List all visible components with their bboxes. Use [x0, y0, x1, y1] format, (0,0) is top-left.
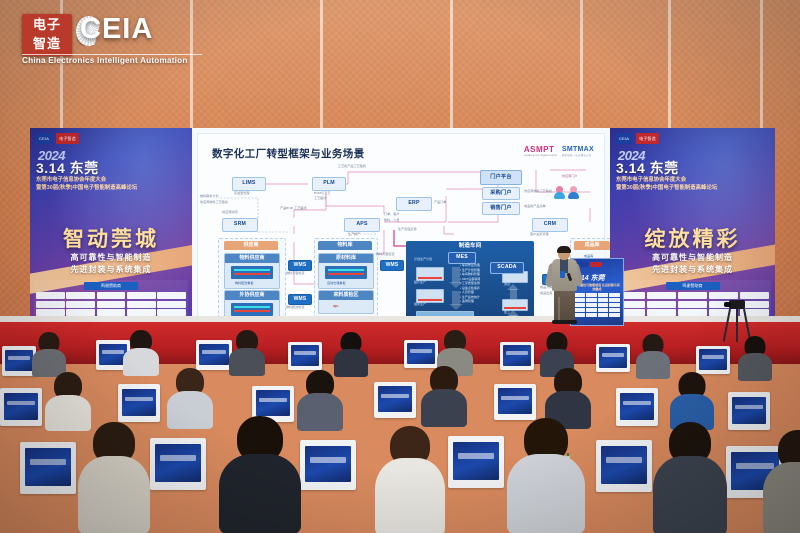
wms-badge-2[interactable]: WMS	[288, 294, 312, 305]
sponsor-logo	[157, 292, 186, 299]
note-plm: BOM与工艺	[314, 191, 330, 195]
presenter	[548, 247, 582, 325]
note-wms-1: 物料齐套检查	[286, 271, 305, 275]
note-plm-2: 工艺路线	[314, 196, 326, 200]
node-portal[interactable]: 门户平台	[480, 170, 522, 185]
audience-member	[380, 426, 440, 533]
workshop-title: 制造车间	[406, 241, 534, 251]
node-srm[interactable]: SRM	[222, 218, 258, 232]
sponsor-logo	[740, 292, 769, 299]
slide-canvas: 数字化工厂转型框架与业务场景 ASMPT Leading the digital…	[197, 133, 605, 328]
supplier-kanban-1	[231, 266, 273, 279]
portal-user-icons	[554, 186, 588, 204]
screenshot-root: CEIA 电子智造 2024 3.14 东莞 东莞市电子信息协会年度大会 暨第3…	[0, 0, 800, 533]
ceia-watermark-logo: 电子智造 CEIA China Electronics Intelligent …	[14, 8, 210, 70]
stage-insert-label: 插件生产	[414, 302, 426, 306]
sponsor-logo	[647, 309, 676, 316]
note-material-plan: 物料需求计划	[200, 194, 219, 198]
sponsor-logo	[97, 301, 126, 308]
sponsor-header: 鸣谢赞助商	[666, 282, 720, 290]
led-screen: CEIA 电子智造 2024 3.14 东莞 东莞市电子信息协会年度大会 暨第3…	[30, 128, 775, 333]
audience-member	[660, 422, 720, 533]
audience-member	[170, 368, 210, 426]
audience-member	[230, 416, 290, 532]
sponsor-logo	[97, 309, 126, 316]
led-panel: CEIA 电子智造 2024 3.14 东莞 东莞市电子信息协会年度大会 暨第3…	[30, 128, 775, 333]
presenter-hair	[557, 246, 571, 253]
material-wh-header: 物料库	[318, 241, 372, 251]
banner-right-subtitle-2: 暨第30届(秋季)中国电子智能制造高峰论坛	[616, 183, 717, 191]
audience-member	[516, 418, 576, 532]
node-mes[interactable]: MES	[448, 252, 476, 264]
audience-member	[232, 330, 262, 376]
ceia-logo: CEIA	[616, 133, 632, 144]
material-wh-card: 原材料库 自动仓储看板	[318, 253, 374, 289]
node-plm[interactable]: PLM	[312, 177, 346, 191]
banner-right: CEIA 电子智造 2024 3.14 东莞 东莞市电子信息协会年度大会 暨第3…	[610, 128, 775, 333]
sponsor-logo	[127, 309, 156, 316]
audience-member	[770, 430, 800, 533]
note-wms-3: 物料齐套检查	[376, 252, 395, 256]
note-supplier-route: 供应商物料工艺路线	[200, 200, 228, 204]
note-product-order: 产品订单	[434, 200, 446, 204]
chair	[696, 346, 730, 374]
sponsor-logo	[678, 309, 707, 316]
note-erp-1: 订单、客户	[384, 212, 399, 216]
ceia-logo: CEIA	[36, 133, 52, 144]
audience-member	[126, 330, 156, 376]
sponsor-logo	[647, 301, 676, 308]
ceia-wordmark: CEIA	[80, 13, 153, 46]
note-supplier-route-2: 供应商物料工艺路线	[524, 189, 552, 193]
chair	[596, 344, 630, 372]
banner-left-title: 智动莞城	[30, 223, 192, 253]
banner-left-tagline-2: 先进封装与系统集成	[30, 264, 192, 275]
audience-member	[740, 336, 770, 380]
note-process-route: 工艺和产品工艺路线	[338, 164, 366, 168]
node-portal-supplier[interactable]: 采购门户	[482, 187, 520, 200]
chair	[300, 440, 356, 490]
flow-arrow-1	[452, 267, 460, 283]
banner-right-tagline-1: 高可靠性与智能制造	[610, 252, 775, 263]
node-scada[interactable]: SCADA	[490, 262, 524, 274]
stage-smt-label: 贴片生产	[414, 280, 426, 284]
audience-member	[84, 422, 144, 532]
workshop-plan-label: 计划生产计划	[414, 257, 432, 261]
video-camera-icon	[729, 300, 745, 309]
sponsor-logo	[157, 301, 186, 308]
sponsor-logo	[97, 292, 126, 299]
note-wms-2: 物料配送检查	[286, 305, 305, 309]
sponsor-logo	[157, 309, 186, 316]
wms-badge-3[interactable]: WMS	[380, 260, 404, 271]
note-supplier-portal: 供应商门户	[562, 174, 577, 178]
sponsor-logo	[36, 301, 65, 308]
chair	[150, 438, 206, 490]
sponsor-logo	[127, 301, 156, 308]
sponsor-logo	[36, 292, 65, 299]
ceia-tagline: China Electronics Intelligent Automation	[22, 56, 188, 65]
audience-member	[300, 370, 340, 428]
presenter-badge	[560, 271, 565, 278]
audience-member	[424, 366, 464, 424]
node-erp[interactable]: ERP	[396, 197, 432, 211]
sponsor-logo	[36, 309, 65, 316]
flow-arrow-2	[452, 291, 460, 305]
supplier-card-1: 物料供应商 物料配送看板	[224, 253, 280, 289]
logo-divider	[22, 54, 202, 55]
banner-right-subtitle-1: 东莞市电子信息协会年度大会	[616, 175, 686, 183]
audience-member	[336, 332, 366, 376]
sponsor-logo	[66, 292, 95, 299]
wms-badge-1[interactable]: WMS	[288, 260, 312, 271]
association-logo: 电子智造	[56, 133, 79, 144]
banner-left: CEIA 电子智造 2024 3.14 东莞 东莞市电子信息协会年度大会 暨第3…	[30, 128, 192, 333]
chair	[118, 384, 160, 422]
sponsor-logo	[66, 301, 95, 308]
supplier-header: 供应商	[224, 241, 278, 251]
chair	[448, 436, 504, 488]
node-portal-sales[interactable]: 销售门户	[482, 202, 520, 215]
sponsor-logo	[647, 292, 676, 299]
note-production-feedback: 生产实绩反馈	[398, 227, 417, 231]
chair	[500, 342, 534, 370]
chair	[374, 382, 416, 418]
banner-right-logos: CEIA 电子智造	[616, 133, 769, 144]
note-product-list: 成品的产品清单	[524, 204, 546, 208]
note-erp-2: 物料、人员	[384, 218, 399, 222]
chinese-seal-icon: 电子智造	[22, 14, 72, 56]
association-logo: 电子智造	[636, 133, 659, 144]
sponsor-logo	[678, 301, 707, 308]
audience-area	[0, 330, 800, 533]
node-lims[interactable]: LIMS	[232, 177, 266, 191]
sponsor-logo	[709, 292, 738, 299]
audience-member	[48, 372, 88, 428]
chair	[616, 388, 658, 426]
sponsor-logo	[127, 292, 156, 299]
node-crm[interactable]: CRM	[532, 218, 568, 232]
banner-right-title: 绽放精彩	[610, 223, 775, 253]
material-iqc-card: 来料质检区 IQC	[318, 290, 374, 314]
sponsor-logo	[678, 292, 707, 299]
audience-member	[638, 334, 668, 378]
chair	[288, 342, 322, 370]
material-kanban	[325, 266, 367, 279]
note-bom-route: 产品BOM 工艺路线	[280, 206, 306, 210]
stage-smt-box	[416, 267, 444, 281]
presenter-shoes	[552, 320, 577, 324]
chair	[196, 340, 232, 370]
chair	[404, 340, 438, 368]
stage-insert-box	[416, 289, 444, 303]
sponsor-header: 鸣谢赞助商	[84, 282, 138, 290]
audience-member	[672, 372, 712, 428]
node-aps[interactable]: APS	[344, 218, 380, 232]
note-crm: 客户关系管理	[530, 232, 549, 236]
note-srm: 供应商协同	[222, 210, 237, 214]
note-aps: 生产排产	[348, 232, 360, 236]
banner-left-subtitle-2: 暨第30届(秋季)中国电子智能制造高峰论坛	[36, 183, 137, 191]
banner-left-logos: CEIA 电子智造	[36, 133, 186, 144]
audience-member	[34, 332, 64, 376]
chair	[596, 440, 652, 492]
chair	[20, 442, 76, 494]
chair	[0, 388, 42, 426]
banner-right-tagline-2: 先进封装与系统集成	[610, 264, 775, 275]
chair	[728, 392, 770, 430]
sponsor-logo	[66, 309, 95, 316]
banner-left-subtitle-1: 东莞市电子信息协会年度大会	[36, 175, 106, 183]
supplier-kanban-2	[231, 303, 273, 316]
chair	[494, 384, 536, 420]
chair	[2, 346, 36, 376]
note-lims: 实验室管理	[234, 191, 249, 195]
banner-left-tagline-1: 高可靠性与智能制造	[30, 252, 192, 263]
